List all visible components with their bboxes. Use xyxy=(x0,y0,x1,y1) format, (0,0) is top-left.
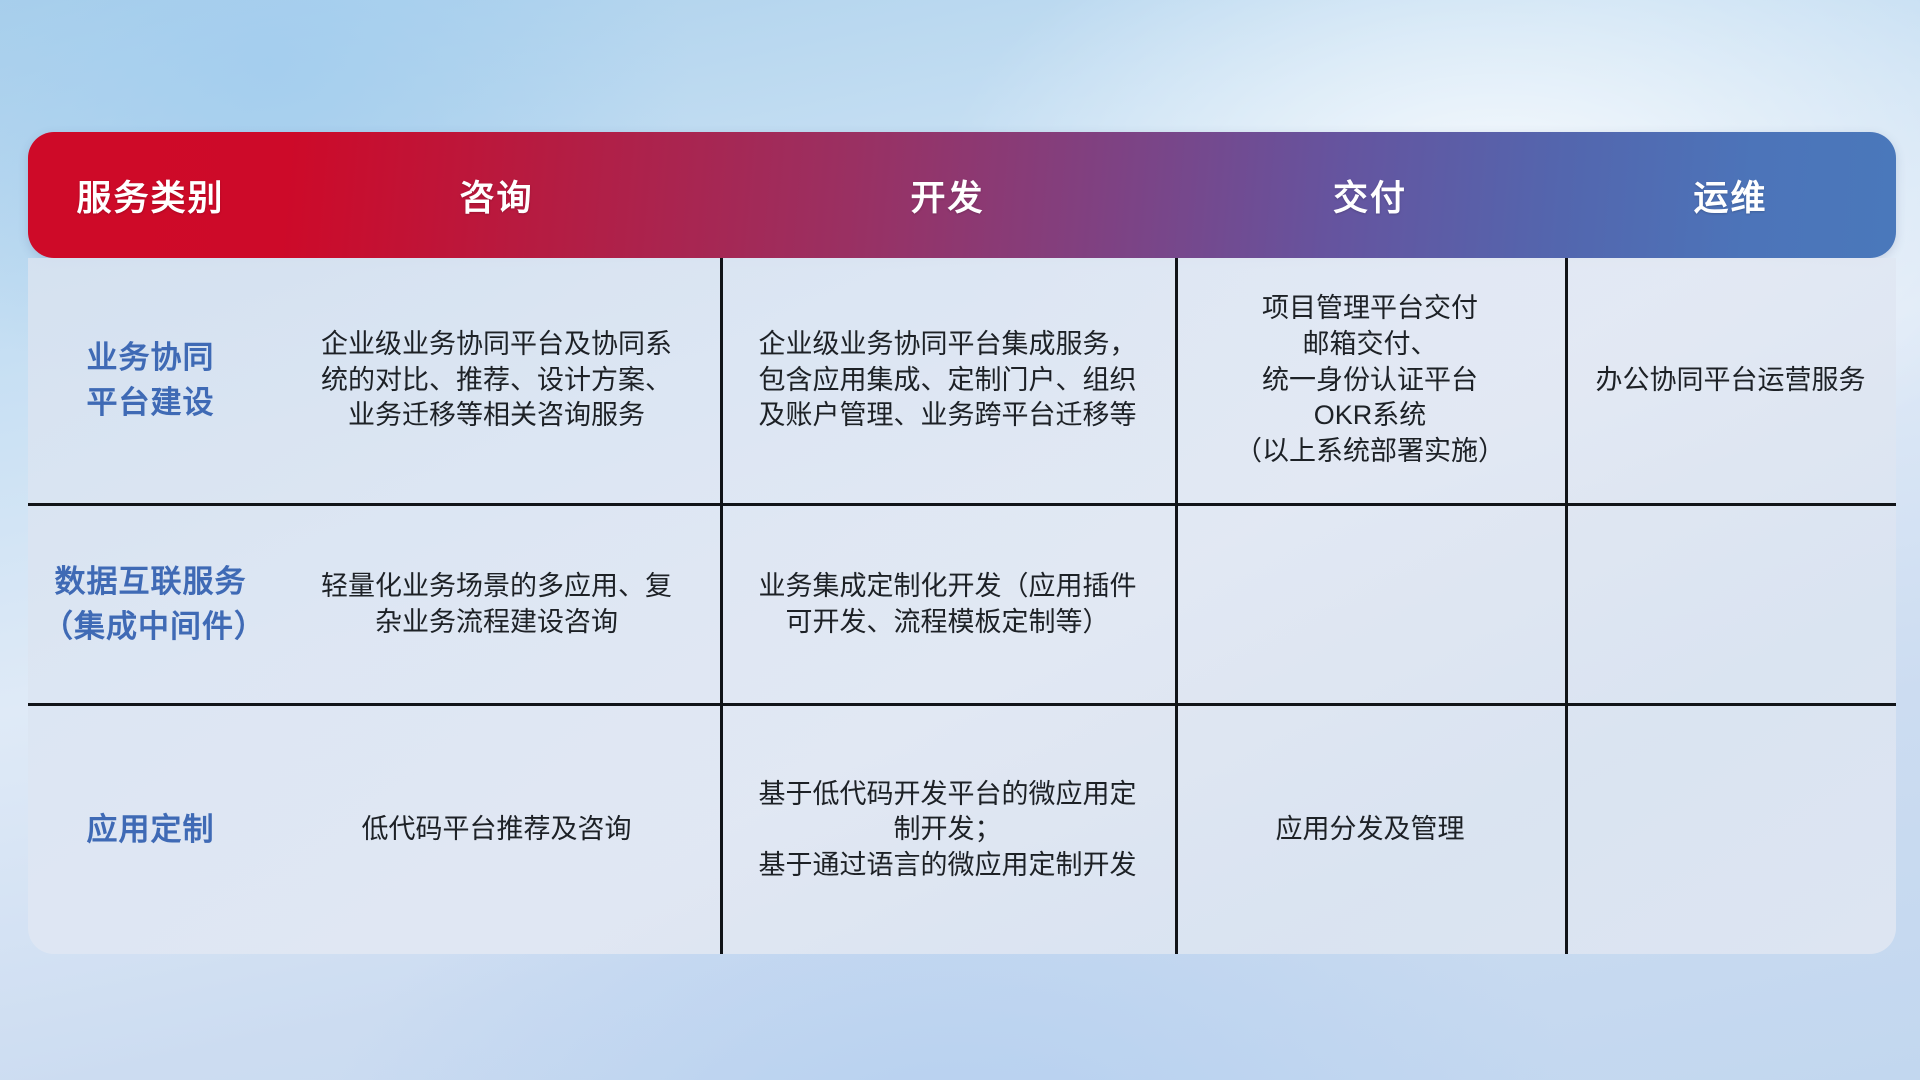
slide-canvas: 服务类别 咨询 开发 交付 运维 业务协同 平台建设 企业级业务协同平台及协同系… xyxy=(0,0,1920,1080)
header-cell-category: 服务类别 xyxy=(28,132,273,258)
table-row: 数据互联服务 （集成中间件） 轻量化业务场景的多应用、复 杂业务流程建设咨询 业… xyxy=(28,506,1896,706)
cell-delivery-row3: 应用分发及管理 xyxy=(1175,706,1565,954)
cell-consulting-row1: 企业级业务协同平台及协同系 统的对比、推荐、设计方案、 业务迁移等相关咨询服务 xyxy=(273,258,720,503)
cell-development-row3: 基于低代码开发平台的微应用定 制开发； 基于通过语言的微应用定制开发 xyxy=(720,706,1175,954)
row-label-business-collaboration: 业务协同 平台建设 xyxy=(28,258,273,503)
table-header-row: 服务类别 咨询 开发 交付 运维 xyxy=(28,132,1896,258)
table-row: 业务协同 平台建设 企业级业务协同平台及协同系 统的对比、推荐、设计方案、 业务… xyxy=(28,258,1896,506)
cell-consulting-row3: 低代码平台推荐及咨询 xyxy=(273,706,720,954)
header-cell-delivery: 交付 xyxy=(1175,132,1565,258)
service-matrix-table: 服务类别 咨询 开发 交付 运维 业务协同 平台建设 企业级业务协同平台及协同系… xyxy=(28,132,1896,954)
header-cell-consulting: 咨询 xyxy=(273,132,720,258)
header-cell-development: 开发 xyxy=(720,132,1175,258)
row-label-data-interconnect: 数据互联服务 （集成中间件） xyxy=(28,506,273,703)
row-label-app-customization: 应用定制 xyxy=(28,706,273,954)
cell-delivery-row2 xyxy=(1175,506,1565,703)
cell-operations-row2 xyxy=(1565,506,1896,703)
table-body: 业务协同 平台建设 企业级业务协同平台及协同系 统的对比、推荐、设计方案、 业务… xyxy=(28,258,1896,954)
cell-operations-row1: 办公协同平台运营服务 xyxy=(1565,258,1896,503)
cell-operations-row3 xyxy=(1565,706,1896,954)
table-row: 应用定制 低代码平台推荐及咨询 基于低代码开发平台的微应用定 制开发； 基于通过… xyxy=(28,706,1896,954)
cell-delivery-row1: 项目管理平台交付 邮箱交付、 统一身份认证平台 OKR系统 （以上系统部署实施） xyxy=(1175,258,1565,503)
header-cell-operations: 运维 xyxy=(1565,132,1896,258)
cell-development-row2: 业务集成定制化开发（应用插件 可开发、流程模板定制等） xyxy=(720,506,1175,703)
cell-development-row1: 企业级业务协同平台集成服务， 包含应用集成、定制门户、组织 及账户管理、业务跨平… xyxy=(720,258,1175,503)
cell-consulting-row2: 轻量化业务场景的多应用、复 杂业务流程建设咨询 xyxy=(273,506,720,703)
